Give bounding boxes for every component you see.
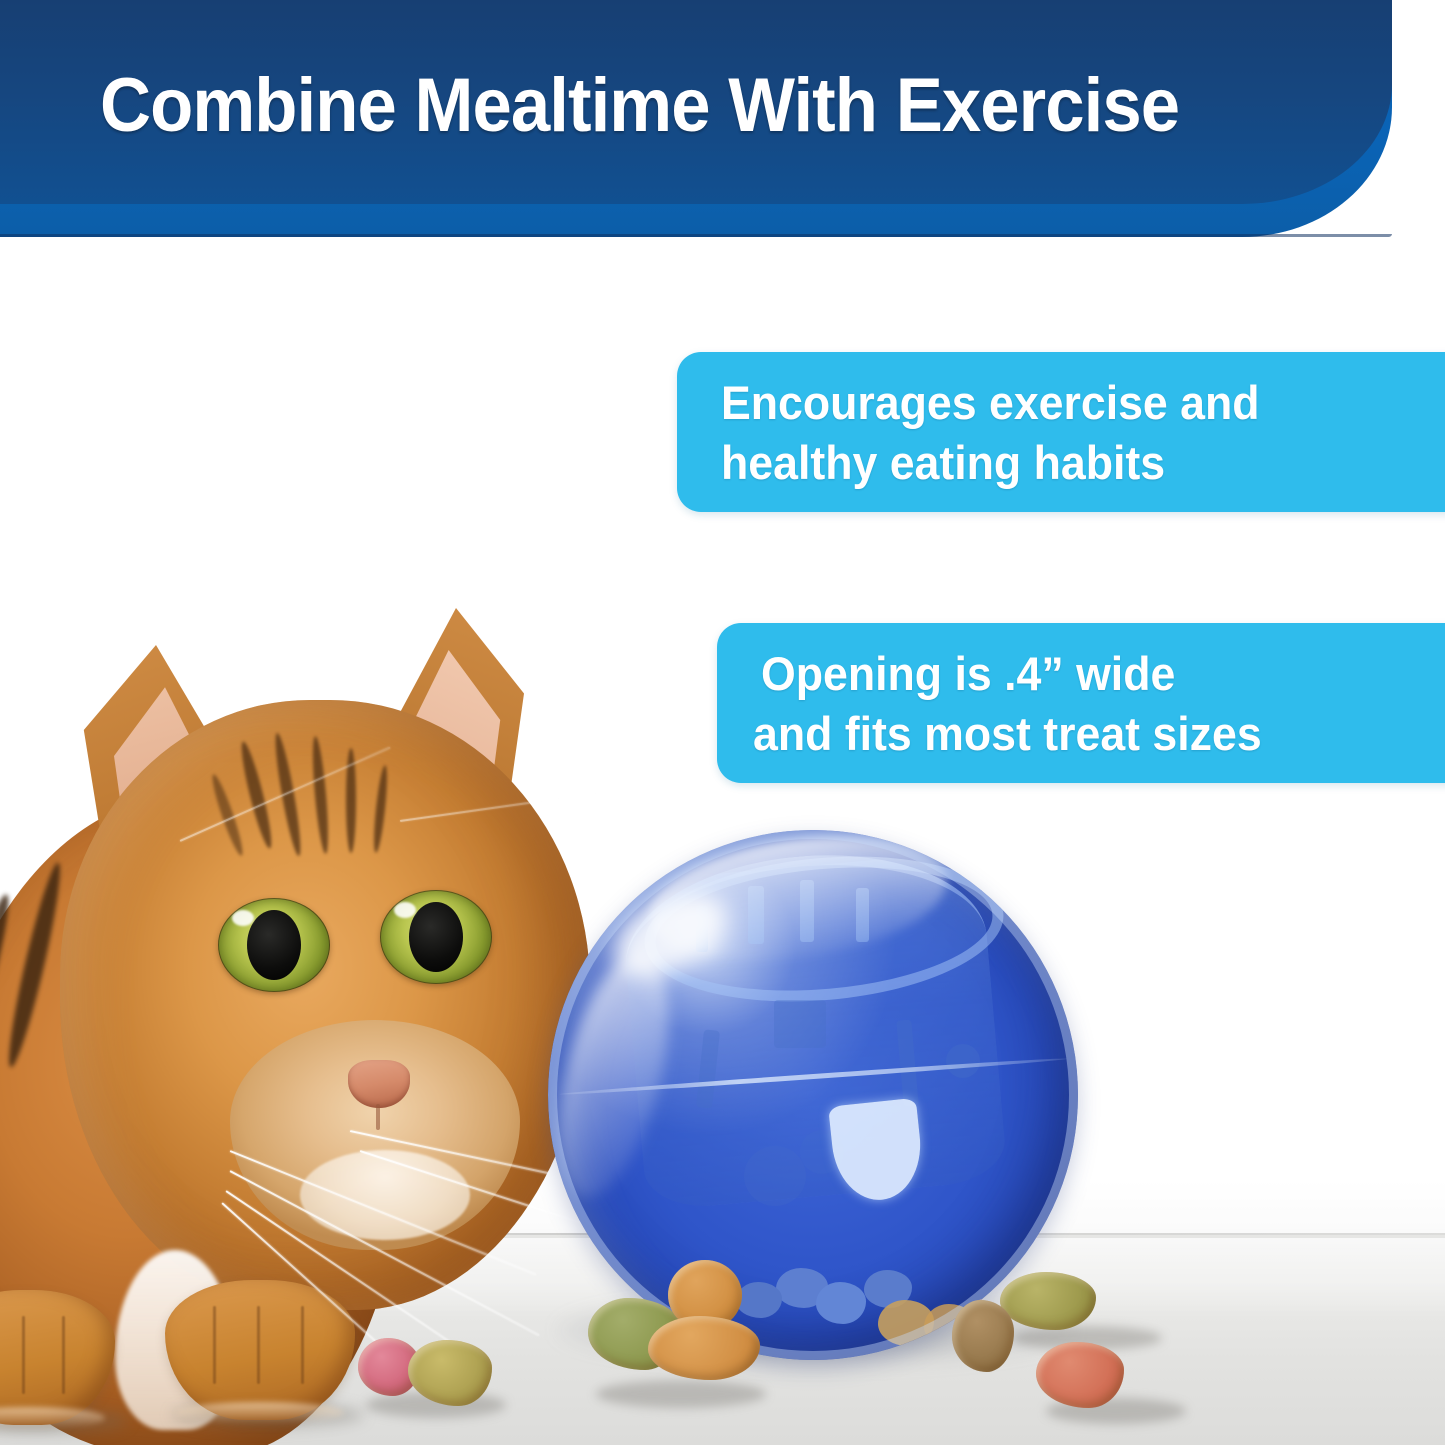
cat-eye-rim: [218, 898, 330, 992]
cat-eye-left: [218, 898, 330, 992]
callout-exercise: Encourages exercise and healthy eating h…: [677, 352, 1445, 512]
page-title: Combine Mealtime With Exercise: [100, 62, 1263, 149]
cat-chin: [300, 1150, 470, 1240]
cat-eye-right: [380, 890, 492, 984]
callout-exercise-line1: Encourages exercise and: [721, 378, 1260, 427]
callout-opening-line2: and fits most treat sizes: [753, 709, 1262, 758]
callout-opening: Opening is .4” wide and fits most treat …: [717, 623, 1445, 783]
callout-opening-line1: Opening is .4” wide: [761, 649, 1175, 698]
cat-paw-right: [165, 1280, 355, 1420]
header-banner: Combine Mealtime With Exercise: [0, 0, 1445, 240]
treat-kibble-orange: [648, 1316, 760, 1380]
callout-exercise-line2: healthy eating habits: [721, 438, 1165, 487]
cat-eye-rim: [380, 890, 492, 984]
treat-ball: [548, 830, 1078, 1360]
treat-shadow: [596, 1380, 766, 1408]
ball-sphere: [548, 830, 1078, 1360]
product-feature-image: Combine Mealtime With Exercise Encourage…: [0, 0, 1445, 1445]
treat-kibble-brown: [952, 1300, 1014, 1372]
cat-philtrum: [376, 1104, 380, 1130]
ball-rim-light: [548, 830, 1078, 1360]
